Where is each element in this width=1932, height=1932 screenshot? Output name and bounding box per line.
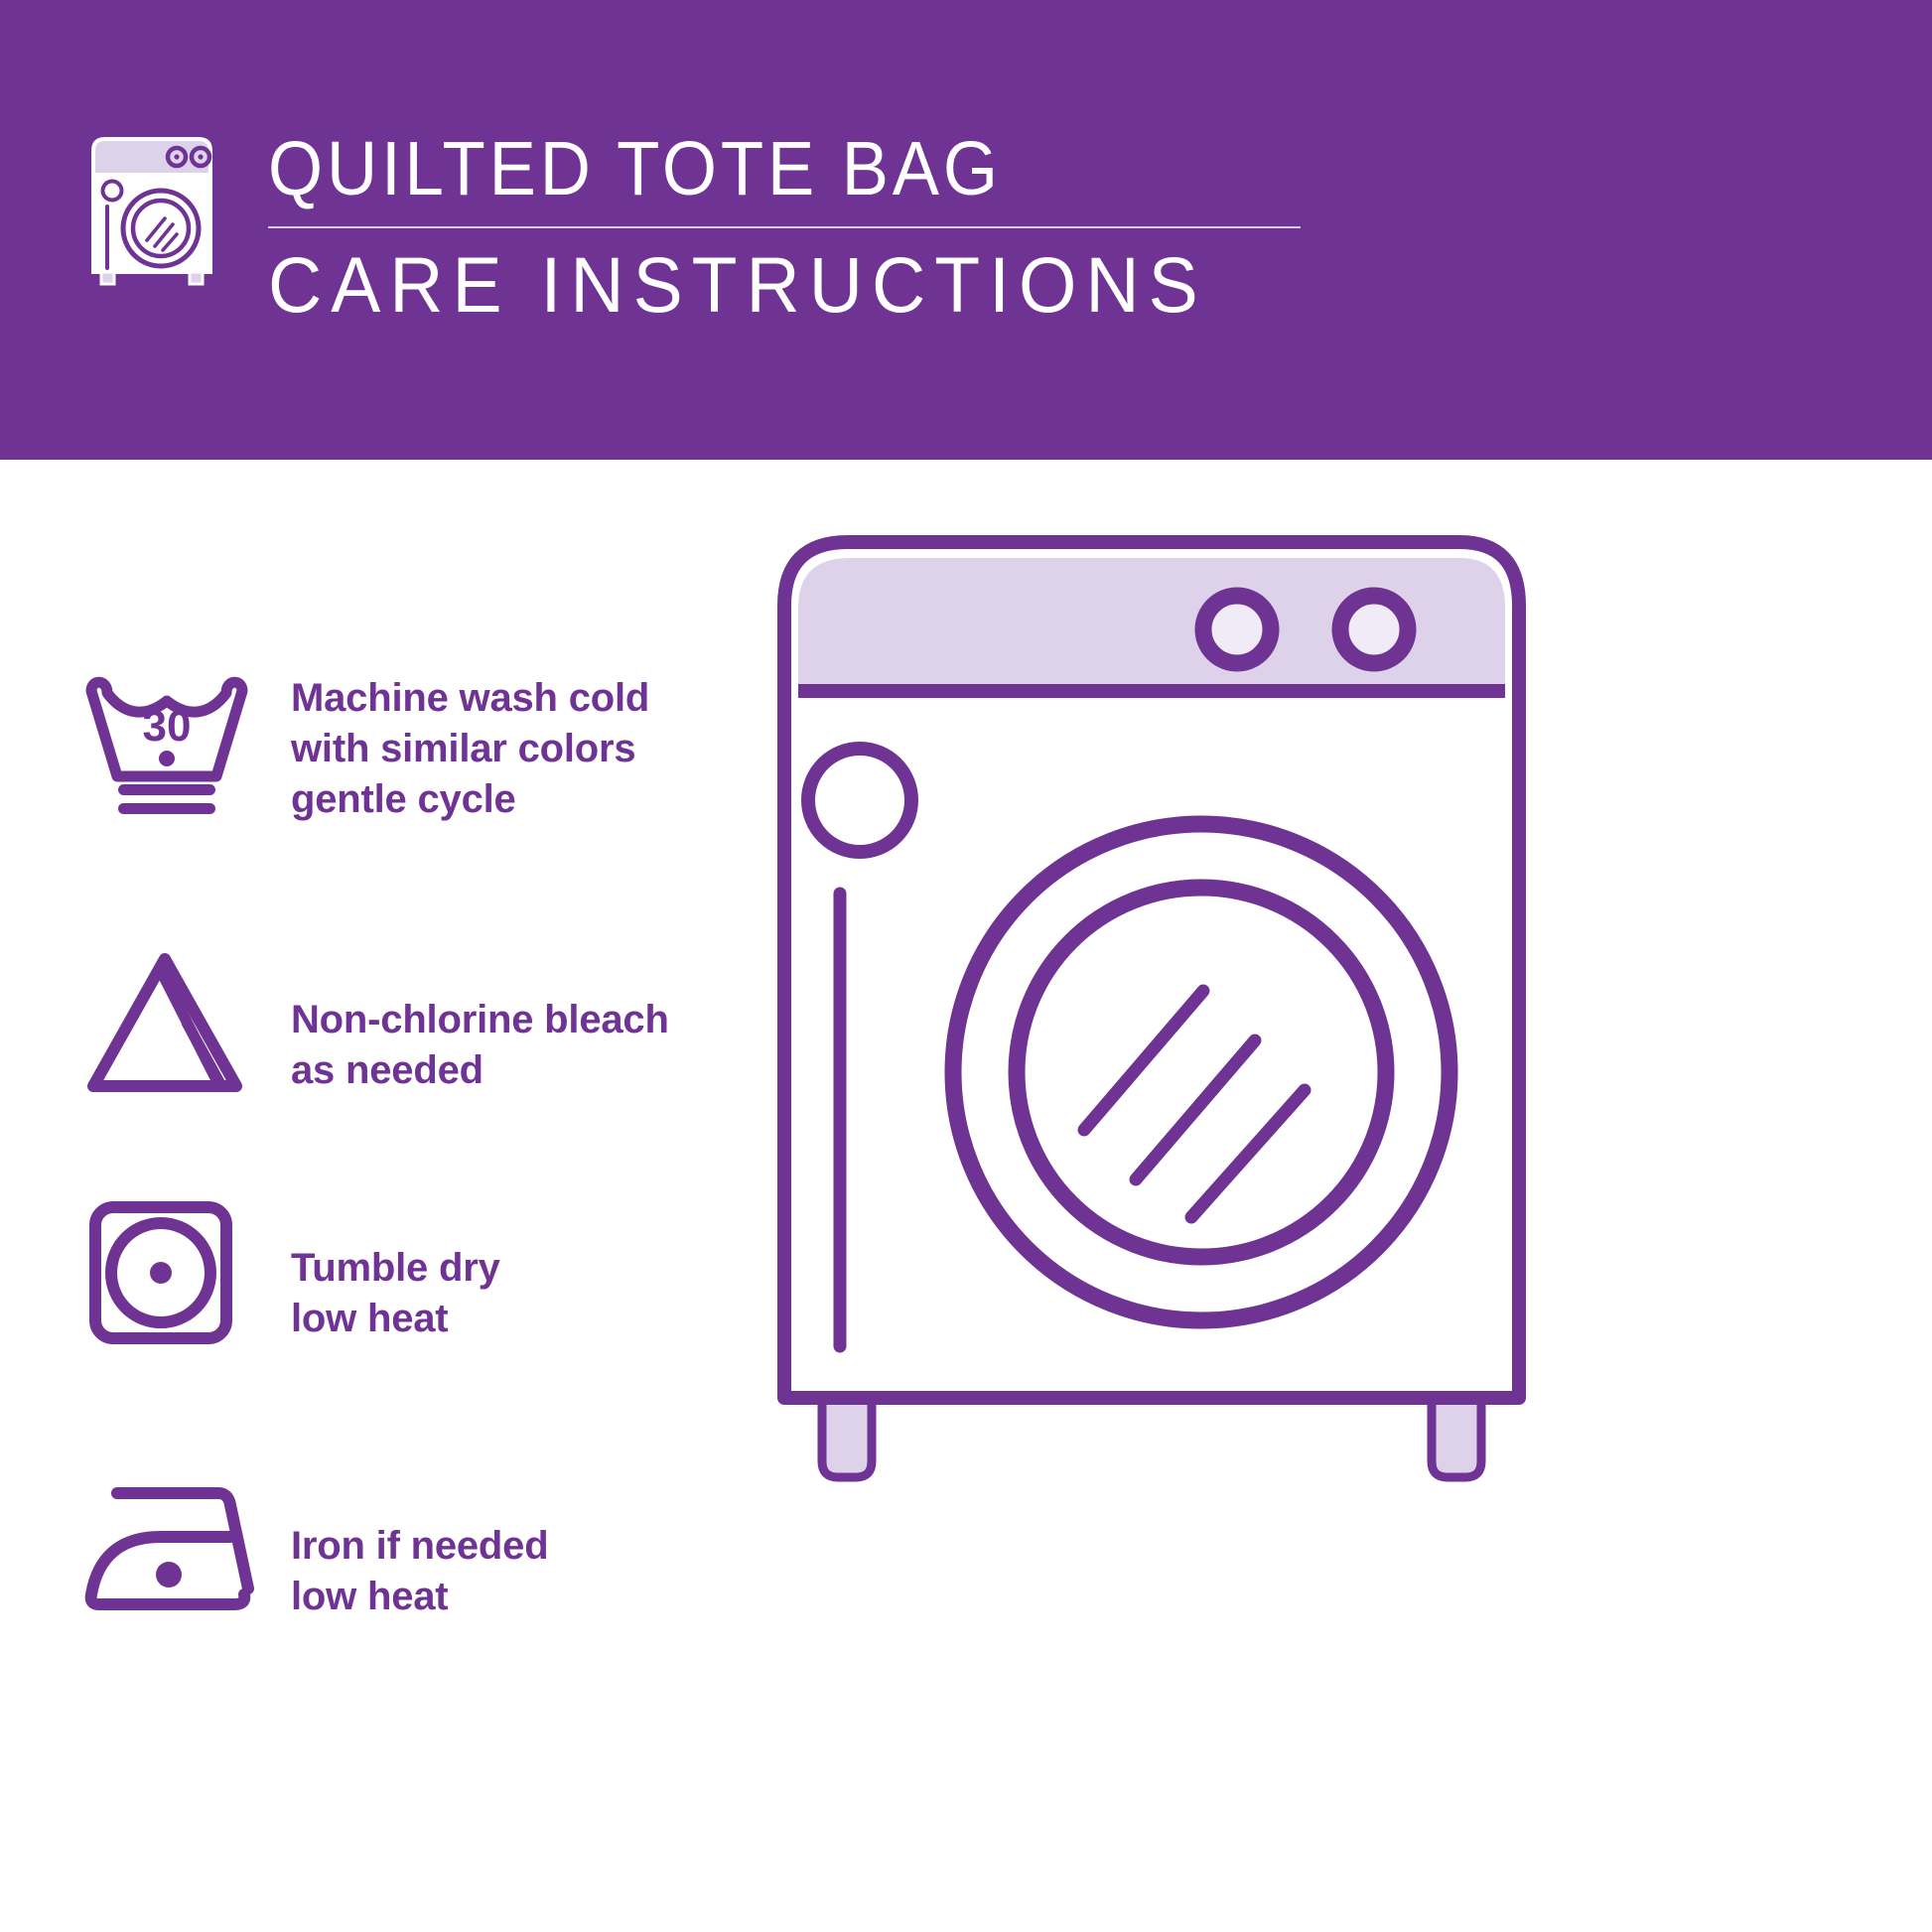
care-symbol-cell: [77, 1442, 291, 1620]
care-row-machine-wash: 30 Machine wash cold with similar colors…: [77, 667, 772, 925]
title-block: QUILTED TOTE BAG CARE INSTRUCTIONS: [268, 127, 1315, 328]
care-label-line: with similar colors: [291, 724, 649, 774]
knob-right[interactable]: [1340, 596, 1408, 663]
care-label-line: Iron if needed: [291, 1521, 548, 1572]
care-label-line: Non-chlorine bleach: [291, 995, 669, 1045]
care-label-line: Tumble dry: [291, 1243, 500, 1294]
care-label-line: Machine wash cold: [291, 673, 649, 724]
care-row-iron: Iron if needed low heat: [77, 1442, 772, 1700]
care-label-bleach: Non-chlorine bleach as needed: [291, 925, 669, 1096]
care-label-machine-wash: Machine wash cold with similar colors ge…: [291, 667, 649, 825]
tumble-dry-low-icon: [77, 1193, 256, 1352]
wash-temperature-label: 30: [143, 702, 192, 751]
care-symbol-cell: [77, 1183, 291, 1352]
header-content: QUILTED TOTE BAG CARE INSTRUCTIONS: [77, 127, 1315, 328]
iron-low-heat-icon: [77, 1471, 261, 1620]
wash-tub-30-icon: 30: [77, 673, 256, 822]
page-title: CARE INSTRUCTIONS: [268, 242, 1263, 328]
care-symbol-cell: [77, 925, 291, 1104]
care-label-iron: Iron if needed low heat: [291, 1442, 548, 1622]
header-banner: QUILTED TOTE BAG CARE INSTRUCTIONS: [0, 0, 1932, 460]
care-label-tumble-dry: Tumble dry low heat: [291, 1183, 500, 1344]
care-label-line: low heat: [291, 1294, 500, 1344]
care-symbol-cell: 30: [77, 667, 291, 822]
product-title: QUILTED TOTE BAG: [268, 127, 1232, 210]
knob-left[interactable]: [1203, 596, 1271, 663]
bleach-triangle-icon: [77, 945, 256, 1104]
care-instructions-list: 30 Machine wash cold with similar colors…: [77, 667, 772, 1700]
title-divider: [268, 226, 1301, 228]
care-label-line: low heat: [291, 1572, 548, 1622]
care-label-line: as needed: [291, 1045, 669, 1096]
washing-machine-icon: [77, 131, 226, 288]
care-row-bleach: Non-chlorine bleach as needed: [77, 925, 772, 1183]
care-row-tumble-dry: Tumble dry low heat: [77, 1183, 772, 1442]
care-label-line: gentle cycle: [291, 774, 649, 825]
washing-machine-illustration: [764, 516, 1549, 1509]
